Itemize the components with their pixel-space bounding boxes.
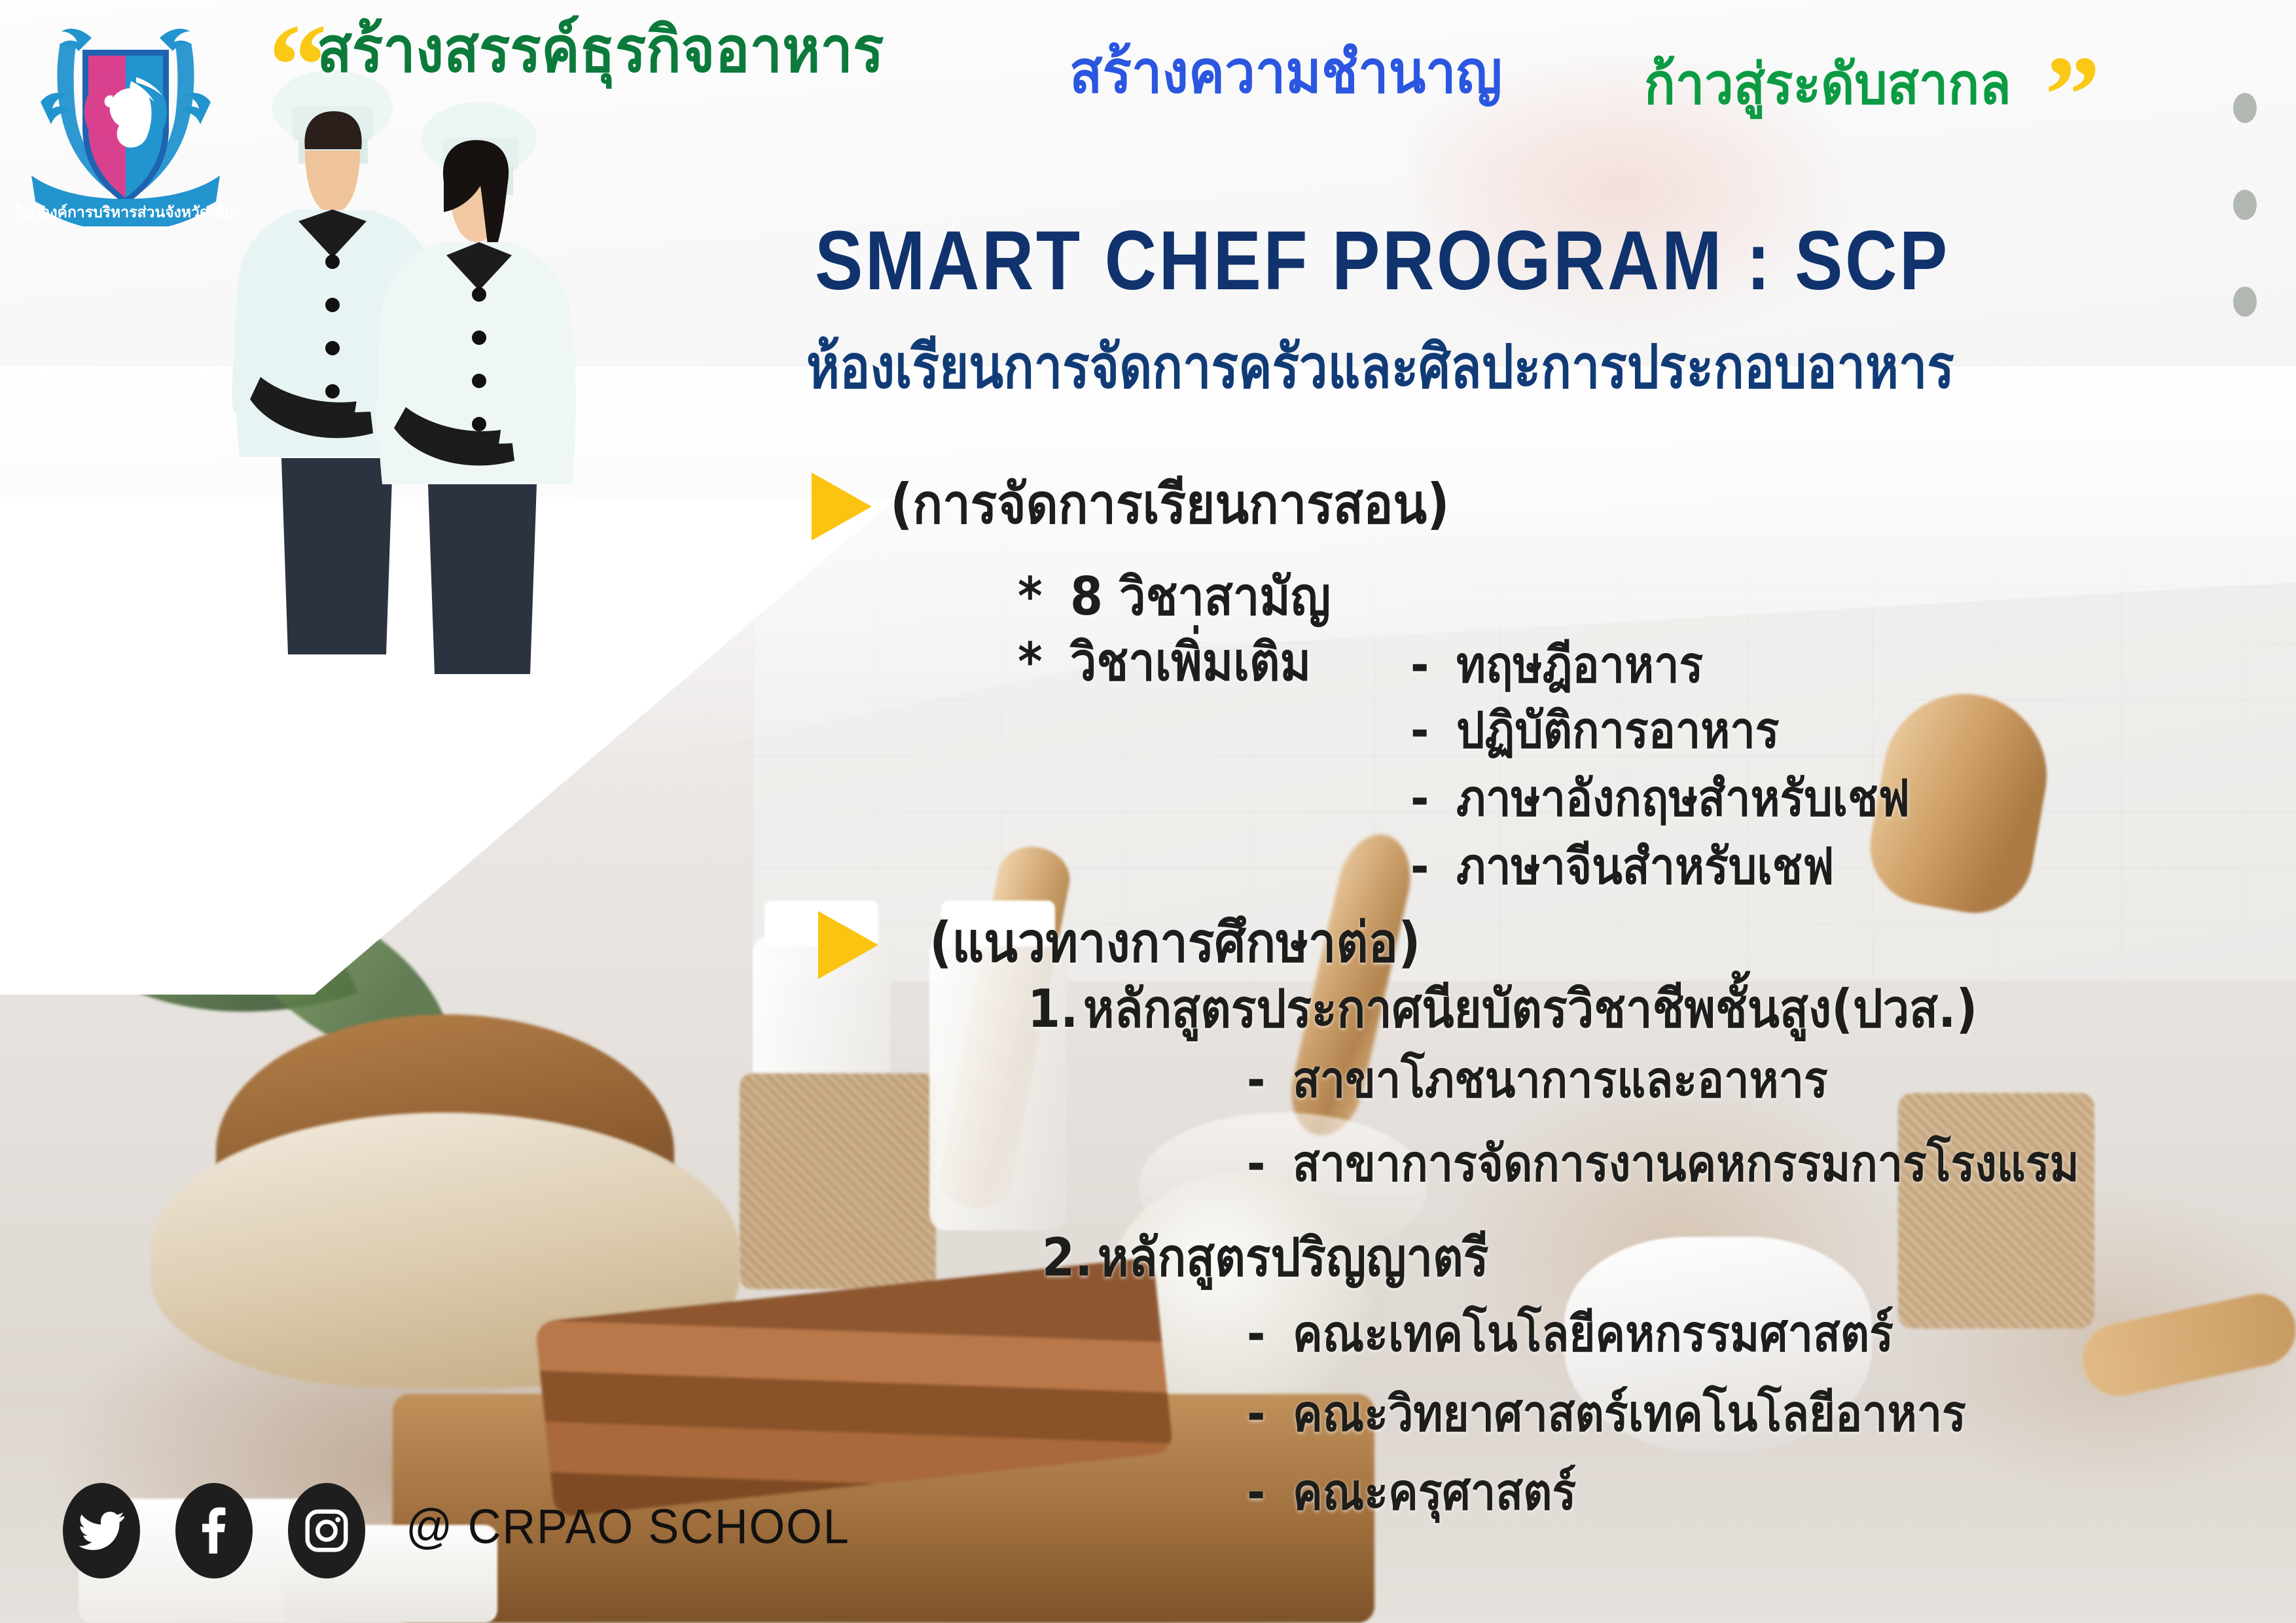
- burlap-wrap-2: [1898, 1093, 2094, 1329]
- twitter-icon[interactable]: [63, 1483, 140, 1578]
- list-item: 8 วิชาสามัญ: [1070, 571, 1331, 623]
- decorative-dot: [2233, 190, 2257, 220]
- burlap-wrap-1: [740, 1073, 936, 1289]
- sublist-item: สาขาโภชนาการและอาหาร: [1293, 1055, 1828, 1105]
- sublist-item: คณะครุศาสตร์: [1293, 1467, 1576, 1517]
- numbered-item: หลักสูตรประกาศนียบัตรวิชาชีพชั้นสูง(ปวส.…: [1083, 983, 1977, 1035]
- close-quote-mark: ”: [2045, 39, 2100, 151]
- page-title: SMART CHEF PROGRAM : SCP: [815, 219, 1950, 303]
- sublist-item: ปฏิบัติการอาหาร: [1456, 705, 1779, 755]
- decorative-dot: [2233, 93, 2257, 123]
- list-item-marker: *: [1018, 636, 1043, 688]
- numbered-item-marker: 1.: [1028, 983, 1078, 1035]
- sublist-item-marker: -: [1247, 1055, 1265, 1105]
- sublist-item: สาขาการจัดการงานคหกรรมการโรงแรม: [1293, 1139, 2079, 1188]
- sublist-item-marker: -: [1247, 1139, 1265, 1188]
- sublist-item-marker: -: [1410, 842, 1429, 891]
- sublist-item: ภาษาจีนสำหรับเชฟ: [1456, 842, 1834, 891]
- sublist-item-marker: -: [1247, 1389, 1265, 1438]
- section-heading-1: (การจัดการเรียนการสอน): [890, 476, 1450, 531]
- slogan-part-3: ก้าวสู่ระดับสากล: [1644, 56, 2011, 113]
- list-item: วิชาเพิ่มเติม: [1070, 636, 1311, 688]
- social-handle: @ CRPAO SCHOOL: [406, 1499, 850, 1554]
- sublist-item-marker: -: [1247, 1467, 1265, 1517]
- instagram-icon[interactable]: [288, 1483, 365, 1578]
- sublist-item-marker: -: [1410, 705, 1429, 755]
- poster-canvas: โรงเรียนองค์การบริหารส่วนจังหวัดเชียงราย: [0, 0, 2296, 1623]
- numbered-item: หลักสูตรปริญญาตรี: [1098, 1232, 1488, 1284]
- section-heading-2: (แนวทางการศึกษาต่อ): [929, 915, 1421, 970]
- sublist-item: คณะวิทยาศาสตร์เทคโนโลยีอาหาร: [1293, 1389, 1966, 1438]
- chef-students-photo: [183, 46, 681, 766]
- decorative-dot: [2233, 287, 2257, 317]
- page-subtitle: ห้องเรียนการจัดการครัวและศิลปะการประกอบอ…: [806, 337, 1954, 397]
- sublist-item: ทฤษฎีอาหาร: [1456, 640, 1703, 690]
- sublist-item: ภาษาอังกฤษสำหรับเชฟ: [1456, 774, 1910, 823]
- arrow-bullet-icon-2: [818, 911, 878, 979]
- slogan-part-2: สร้างความชำนาญ: [1069, 43, 1502, 102]
- slogan-part-1: สร้างสรรค์ธุรกิจอาหาร: [317, 18, 884, 81]
- sublist-item: คณะเทคโนโลยีคหกรรมศาสตร์: [1293, 1309, 1893, 1359]
- sublist-item-marker: -: [1247, 1309, 1265, 1359]
- sublist-item-marker: -: [1410, 774, 1429, 823]
- numbered-item-marker: 2.: [1042, 1232, 1092, 1284]
- sublist-item-marker: -: [1410, 640, 1429, 690]
- facebook-icon[interactable]: [175, 1483, 253, 1578]
- arrow-bullet-icon-1: [812, 473, 872, 541]
- list-item-marker: *: [1018, 571, 1043, 623]
